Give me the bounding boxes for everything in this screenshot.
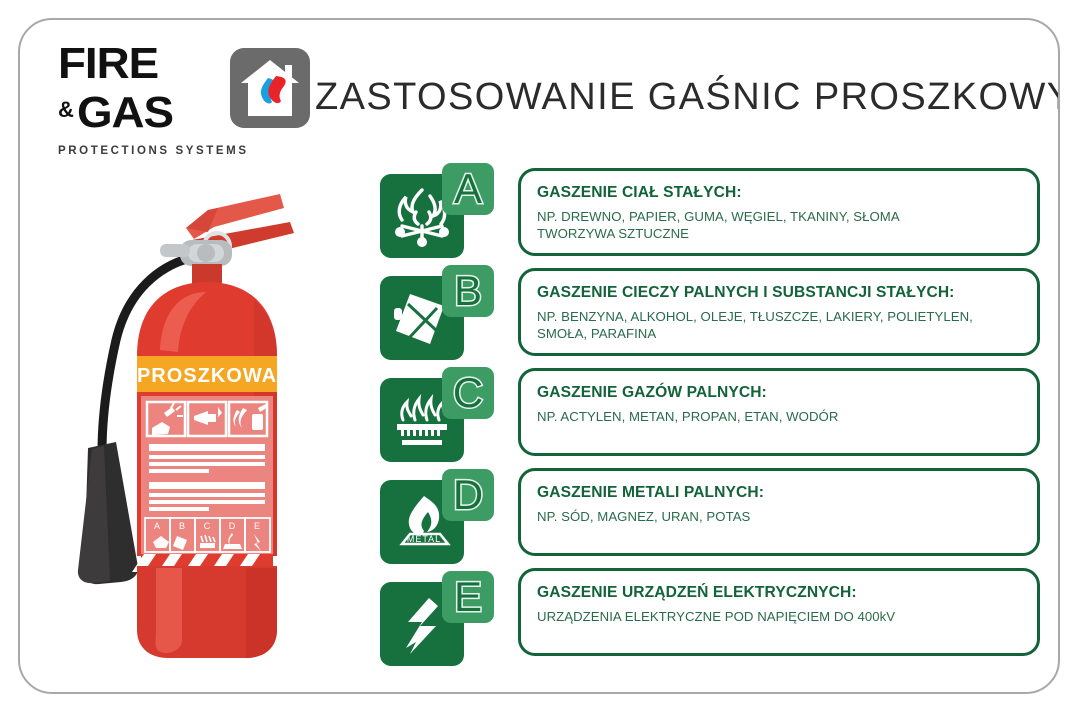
class-title-c: GASZENIE GAZÓW PALNYCH:	[537, 384, 1021, 402]
poster-card: FIRE & GAS PROTECTIONS SYSTEMS ZASTOSOWA…	[18, 18, 1060, 694]
class-body-c-line1: NP. ACTYLEN, METAN, PROPAN, ETAN, WODÓR	[537, 409, 1021, 426]
brand-wordmark: FIRE & GAS	[58, 42, 228, 135]
class-badge-c: C	[442, 367, 494, 419]
class-body-a-line2: TWORZYWA SZTUCZNE	[537, 226, 1021, 243]
class-body-d-line1: NP. SÓD, MAGNEZ, URAN, POTAS	[537, 509, 1021, 526]
fire-class-icon-column: A B	[366, 166, 496, 676]
class-row-e: E	[366, 574, 496, 676]
class-body-b-line2: SMOŁA, PARAFINA	[537, 326, 1021, 343]
class-badge-a: A	[442, 163, 494, 215]
class-description-b: GASZENIE CIECZY PALNYCH I SUBSTANCJI STA…	[518, 268, 1040, 356]
class-body-e-line1: URZĄDZENIA ELEKTRYCZNE POD NAPIĘCIEM DO …	[537, 609, 1021, 626]
class-body-a-line1: NP. DREWNO, PAPIER, GUMA, WĘGIEL, TKANIN…	[537, 209, 1021, 226]
brand-ampersand: &	[58, 88, 74, 135]
svg-text:B: B	[179, 521, 185, 531]
house-flames-icon	[230, 48, 310, 128]
brand-word-fire: FIRE	[58, 42, 235, 86]
svg-text:PROSZKOWA: PROSZKOWA	[137, 365, 277, 387]
brand-word-gas: GAS	[77, 91, 173, 135]
class-title-d: GASZENIE METALI PALNYCH:	[537, 484, 1021, 502]
class-description-d: GASZENIE METALI PALNYCH: NP. SÓD, MAGNEZ…	[518, 468, 1040, 556]
class-title-a: GASZENIE CIAŁ STAŁYCH:	[537, 184, 1021, 202]
class-badge-e: E	[442, 571, 494, 623]
class-description-a: GASZENIE CIAŁ STAŁYCH: NP. DREWNO, PAPIE…	[518, 168, 1040, 256]
page-title: ZASTOSOWANIE GAŚNIC PROSZKOWYCH	[315, 76, 1035, 119]
class-description-e: GASZENIE URZĄDZEŃ ELEKTRYCZNYCH: URZĄDZE…	[518, 568, 1040, 656]
svg-text:D: D	[229, 521, 236, 531]
class-description-c: GASZENIE GAZÓW PALNYCH: NP. ACTYLEN, MET…	[518, 368, 1040, 456]
class-row-c: C	[366, 370, 496, 472]
class-title-b: GASZENIE CIECZY PALNYCH I SUBSTANCJI STA…	[537, 284, 1021, 302]
svg-text:C: C	[204, 521, 211, 531]
svg-text:METAL: METAL	[407, 534, 441, 544]
brand-logo: FIRE & GAS PROTECTIONS SYSTEMS	[58, 42, 310, 172]
class-row-d: METAL D	[366, 472, 496, 574]
class-badge-b: B	[442, 265, 494, 317]
fire-extinguisher-illustration: PROSZKOWA	[40, 170, 340, 690]
brand-tagline: PROTECTIONS SYSTEMS	[58, 145, 310, 157]
class-title-e: GASZENIE URZĄDZEŃ ELEKTRYCZNYCH:	[537, 584, 1021, 602]
class-body-b-line1: NP. BENZYNA, ALKOHOL, OLEJE, TŁUSZCZE, L…	[537, 309, 1021, 326]
class-row-b: B	[366, 268, 496, 370]
class-badge-d: D	[442, 469, 494, 521]
svg-text:E: E	[254, 521, 260, 531]
svg-text:A: A	[154, 521, 160, 531]
class-row-a: A	[366, 166, 496, 268]
class-description-list: GASZENIE CIAŁ STAŁYCH: NP. DREWNO, PAPIE…	[518, 168, 1040, 668]
